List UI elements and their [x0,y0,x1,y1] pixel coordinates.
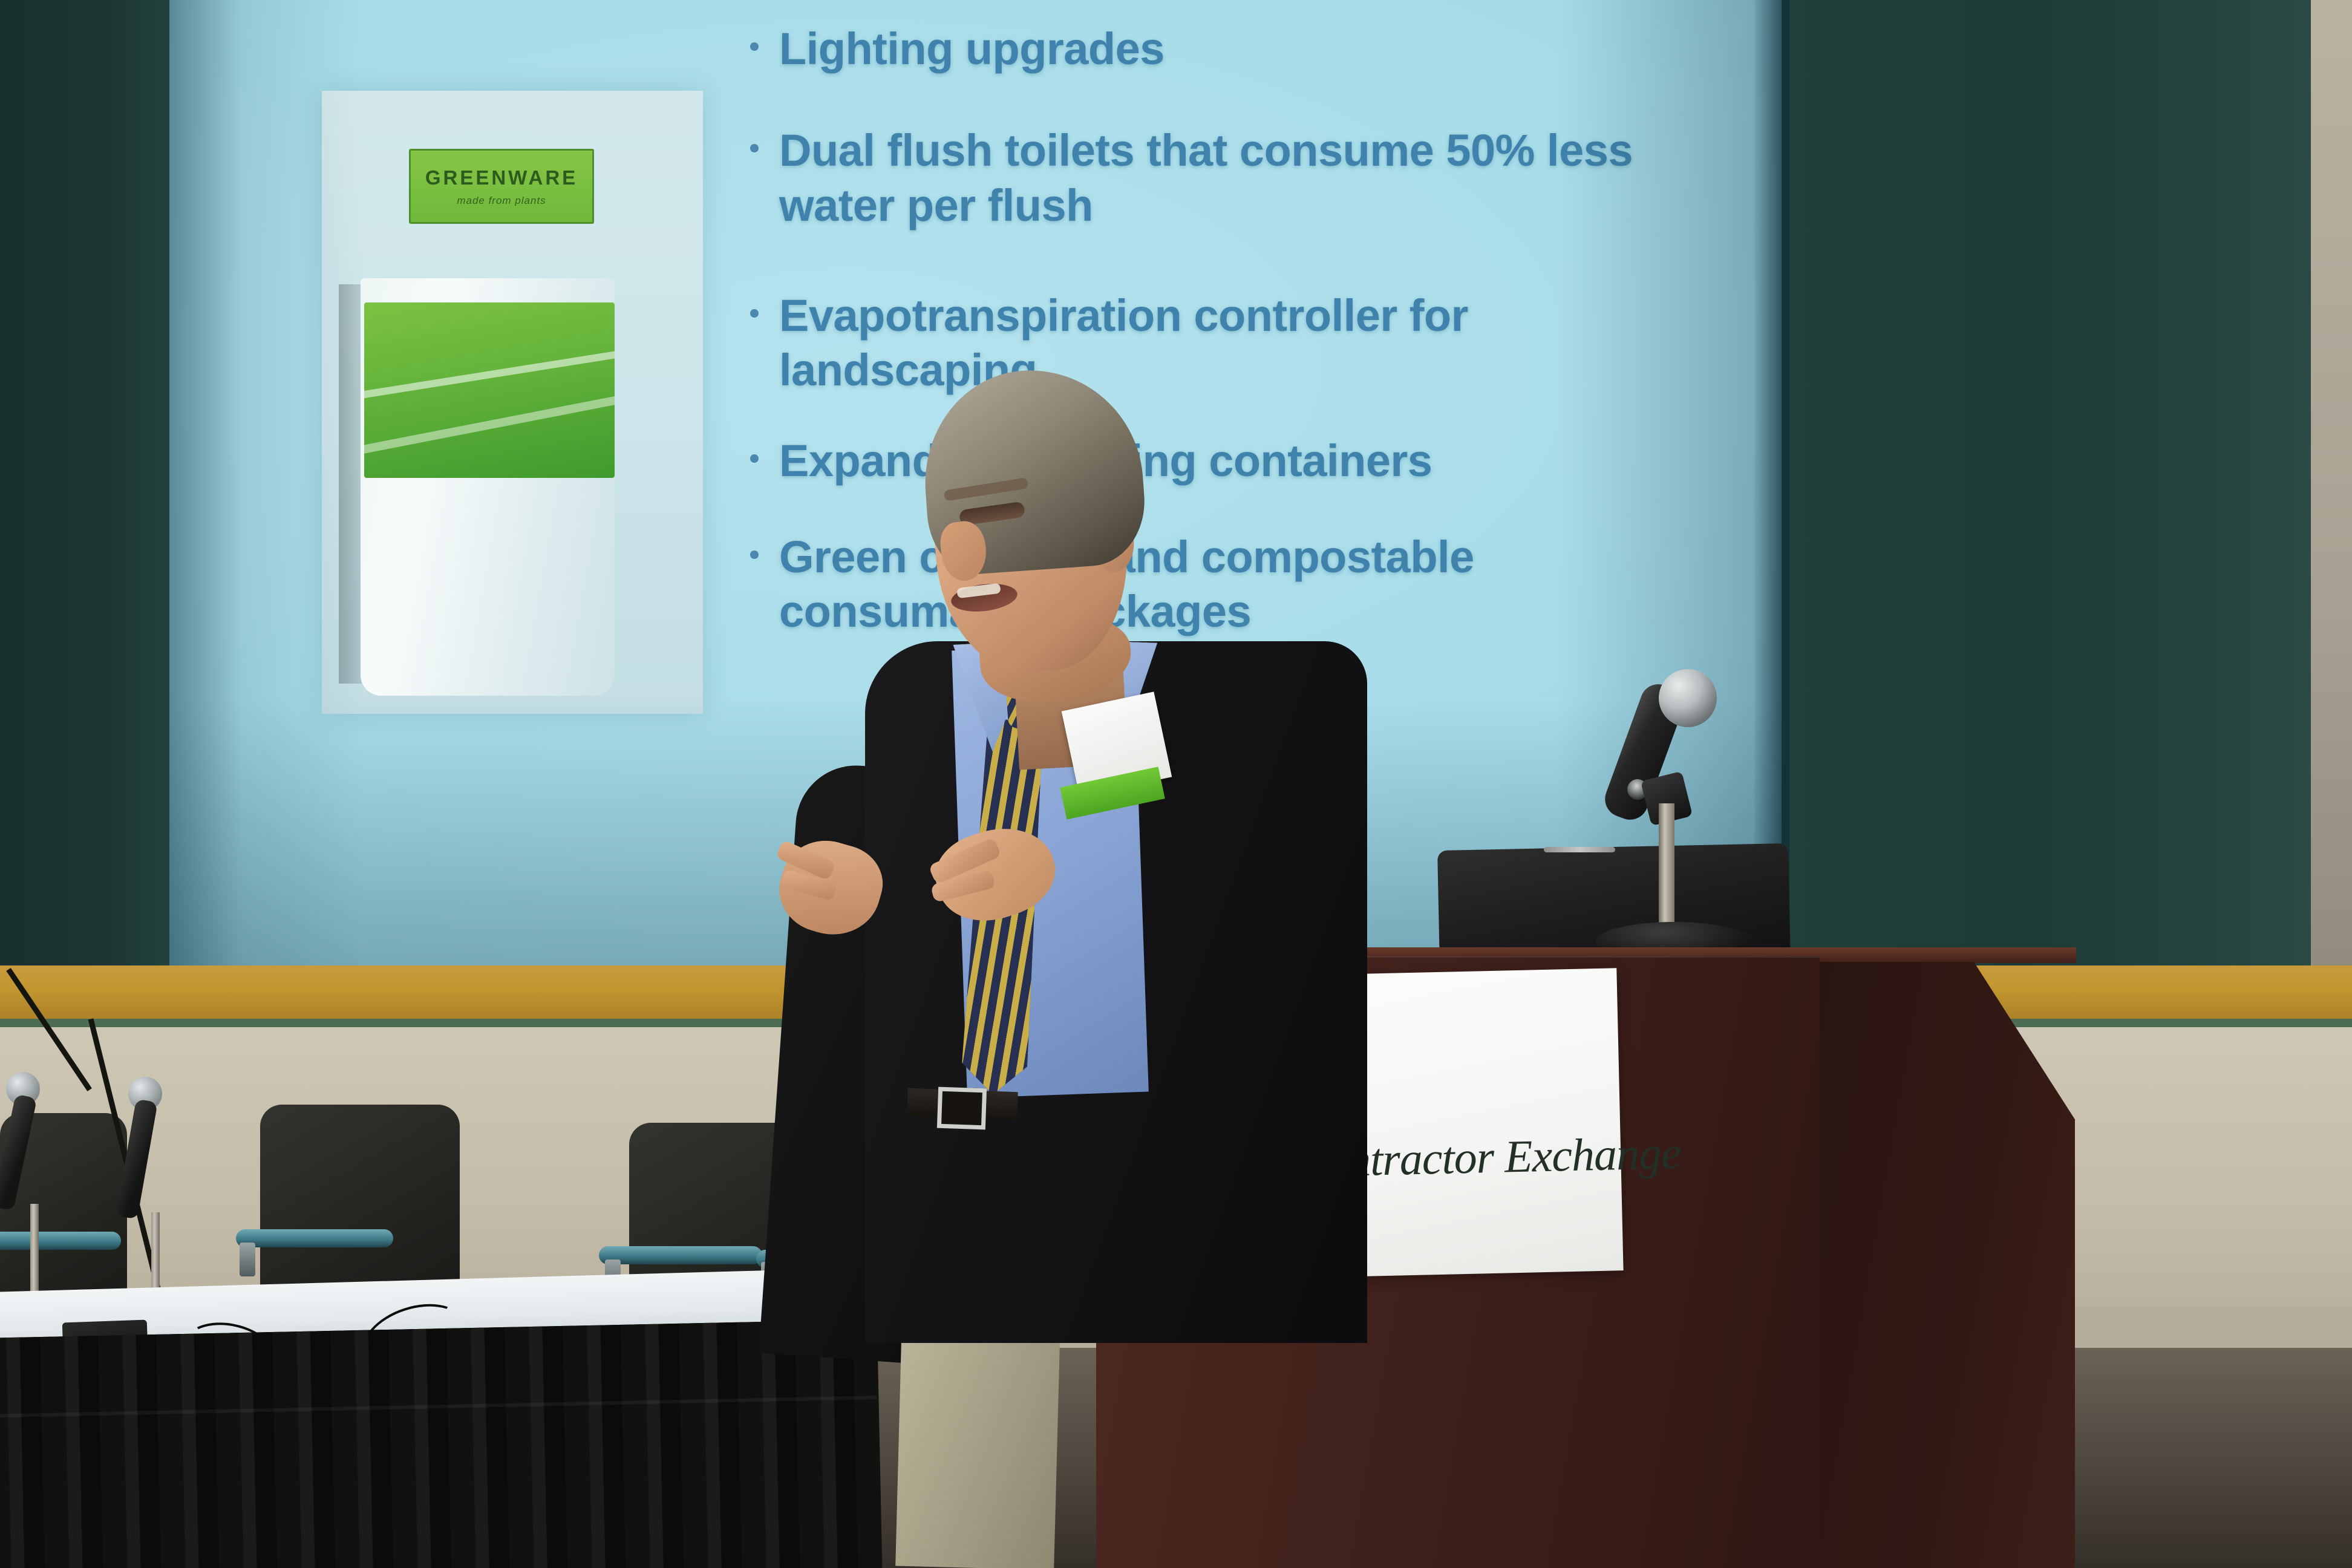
head-table-skirt [0,1319,882,1568]
podium-microphone-head-icon [1659,669,1717,727]
left-wall-panel [0,0,169,992]
far-right-wall-strip [2311,0,2352,1028]
laptop-hinge [1544,847,1615,852]
presentation-photo: GREENWARE made from plants Lighting upgr… [0,0,2352,1568]
chair-armrest [236,1229,393,1247]
speaker-belt-buckle [937,1087,987,1130]
podium-microphone-pole [1659,803,1674,930]
right-wall-panel [1779,0,2317,980]
chair-armrest [599,1246,762,1264]
chair-armrest [0,1232,121,1250]
chair-arm-post [240,1243,255,1276]
screen-right-edge-shadow [1754,0,1789,974]
